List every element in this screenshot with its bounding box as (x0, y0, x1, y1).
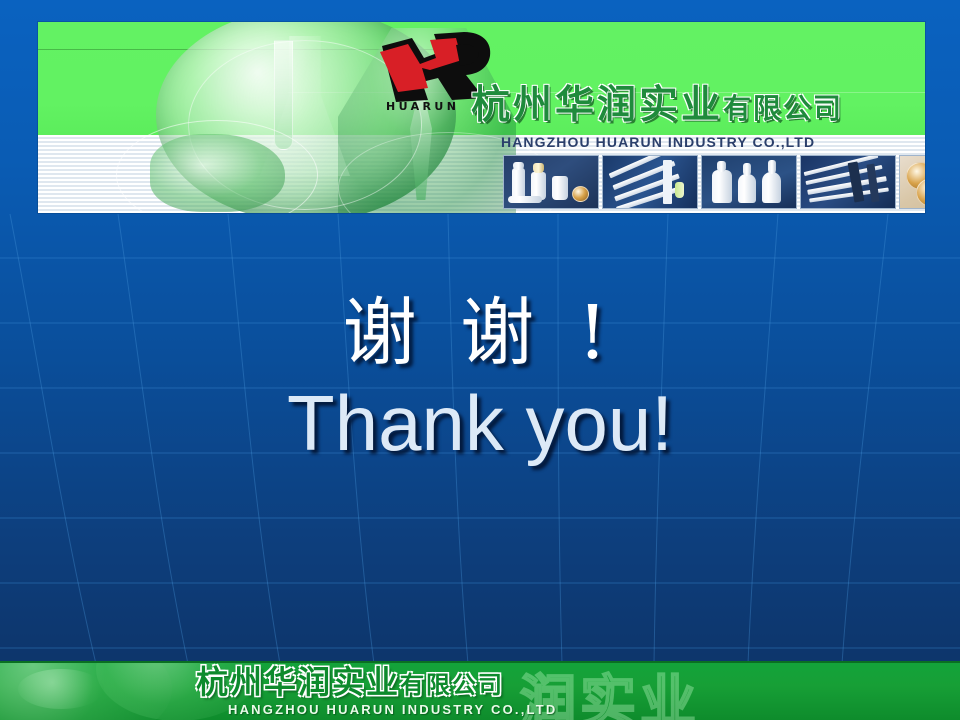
footer-company-name-cn-suffix: 有限公司 (400, 671, 504, 699)
product-thumbnail (503, 155, 599, 209)
svg-text:HUARUN: HUARUN (386, 100, 459, 112)
footer-company-name-cn: 杭州华润实业有限公司 (196, 666, 504, 698)
product-thumbnail (701, 155, 797, 209)
thank-you-headline: 谢 谢 ! Thank you! (0, 296, 960, 465)
company-footer-bar: 润实业 杭州华润实业有限公司 HANGZHOU HUARUN INDUSTRY … (0, 661, 960, 720)
presentation-slide: HUARUN 杭州华润实业有限公司 HANGZHOU HUARUN INDUST… (0, 0, 960, 720)
product-thumbnail (800, 155, 896, 209)
company-header-banner: HUARUN 杭州华润实业有限公司 HANGZHOU HUARUN INDUST… (38, 22, 925, 213)
footer-company-name-en: HANGZHOU HUARUN INDUSTRY CO.,LTD (228, 702, 557, 717)
product-thumbnail-strip (503, 155, 925, 209)
product-thumbnail (899, 155, 925, 209)
footer-company-name-cn-main: 杭州华润实业 (196, 663, 400, 701)
banner-company-name-cn-main: 杭州华润实业 (471, 83, 723, 128)
page-title-en: Thank you! (0, 383, 960, 465)
banner-company-name-cn-suffix: 有限公司 (723, 92, 843, 125)
banner-company-name-en: HANGZHOU HUARUN INDUSTRY CO.,LTD (501, 134, 815, 150)
footer-orb-graphic-3 (18, 669, 104, 709)
product-thumbnail (602, 155, 698, 209)
banner-company-name-cn: 杭州华润实业有限公司 (471, 86, 843, 125)
page-title-cn: 谢 谢 ! (0, 296, 960, 371)
